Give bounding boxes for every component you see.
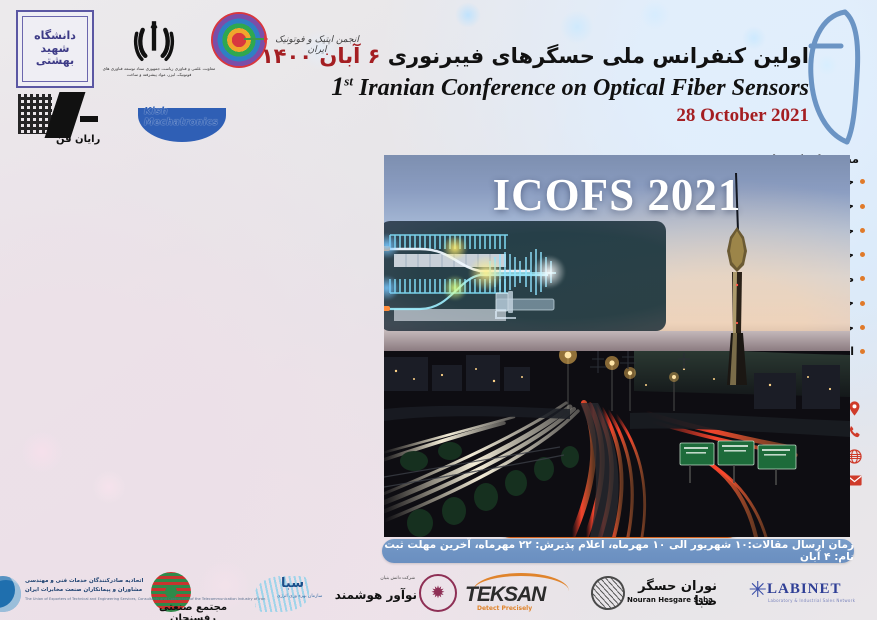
noavar-hooshmand-logo: ✹ شرکت دانش بنیان نوآور هوشمند xyxy=(343,572,463,616)
nouran-hesgare-saba-logo: نوران حسگر صبا Nouran Hesgare Saba xyxy=(591,572,717,616)
rayan-fan-dash-icon xyxy=(80,116,98,122)
sponsor-logo-strip: ✳ LABINET Laboratory & Industrial Sales … xyxy=(0,568,877,620)
bullet-icon xyxy=(860,301,865,306)
persian-date: ۶ آبان ۱۴۰۰ xyxy=(261,44,381,68)
hero-image: ICOFS 2021 xyxy=(384,155,850,537)
photonic-circuit-graphic xyxy=(384,221,666,331)
bullet-icon xyxy=(860,349,865,354)
union-line-3: The Union of Exporters of Technical and … xyxy=(25,597,265,602)
blue-calligraphy-bracket-icon xyxy=(801,6,863,146)
highway-night-scene xyxy=(384,351,850,537)
noavar-subtitle: شرکت دانش بنیان xyxy=(380,576,415,581)
chip-glow-yellow xyxy=(442,275,468,301)
bullet-icon xyxy=(860,325,865,330)
chip-glow-center xyxy=(468,255,504,291)
bullet-icon xyxy=(860,179,865,184)
teksan-name: TEKSAN xyxy=(465,583,545,607)
opsi-arrow-icon xyxy=(244,35,274,43)
saba-name: سبا xyxy=(281,576,304,591)
union-line-1: اتحادیه صادرکنندگان خدمات فنی و مهندسی xyxy=(25,578,143,584)
conference-poster: دانشگاه شهید بهشتی معاونت علمی و فناوری … xyxy=(0,0,877,620)
noavar-name: نوآور هوشمند xyxy=(335,588,417,602)
bokeh-decoration xyxy=(92,470,126,504)
hero-scene: ICOFS 2021 xyxy=(384,155,850,537)
bullet-icon xyxy=(860,252,865,257)
bullet-icon xyxy=(860,276,865,281)
rayan-fan-label: رایان فن xyxy=(56,134,100,145)
deadlines-banner: زمان ارسال مقالات:۱۰ شهریور الی ۱۰ مهرما… xyxy=(382,539,854,563)
teksan-subtitle: Detect Precisely xyxy=(477,605,532,612)
english-date: 28 October 2021 xyxy=(109,105,809,127)
hero-title: ICOFS 2021 xyxy=(384,169,850,221)
noavar-emblem-icon: ✹ xyxy=(419,574,457,612)
bullet-icon xyxy=(860,228,865,233)
labinet-logo: ✳ LABINET Laboratory & Industrial Sales … xyxy=(745,572,877,616)
english-title-line: 1st Iranian Conference on Optical Fiber … xyxy=(109,72,809,103)
title-block: اولین کنفرانس ملی حسگرهای فیبرنوری ۶ آبا… xyxy=(109,44,809,127)
english-conference-title: Iranian Conference on Optical Fiber Sens… xyxy=(359,75,809,101)
ordinal-number: 1st xyxy=(331,72,353,101)
labinet-name: LABINET xyxy=(767,581,842,598)
shahid-beheshti-university-logo: دانشگاه شهید بهشتی xyxy=(16,10,94,88)
teksan-logo: TEKSAN Detect Precisely xyxy=(463,572,591,616)
deadlines-text: زمان ارسال مقالات:۱۰ شهریور الی ۱۰ مهرما… xyxy=(382,539,854,563)
rafsanjan-industrial-complex-logo: مجتمع صنعتی رفسنجان xyxy=(135,572,251,616)
bullet-icon xyxy=(860,204,865,209)
nouran-name-en: Nouran Hesgare Saba xyxy=(627,596,713,604)
rafsanjan-name: مجتمع صنعتی رفسنجان xyxy=(135,602,251,620)
poster-header: دانشگاه شهید بهشتی معاونت علمی و فناوری … xyxy=(0,0,877,150)
labinet-mark-icon: ✳ xyxy=(745,580,767,604)
labinet-subtitle: Laboratory & Industrial Sales Network xyxy=(768,598,855,603)
chip-glow-right xyxy=(532,255,566,289)
saba-logo: سبا سازمان بهره وری انرژی xyxy=(251,572,343,616)
nouran-name-fa: نوران حسگر صبا xyxy=(627,579,717,609)
bokeh-decoration xyxy=(20,430,64,474)
sbu-logo-text: دانشگاه شهید بهشتی xyxy=(22,16,88,82)
persian-title-line: اولین کنفرانس ملی حسگرهای فیبرنوری ۶ آبا… xyxy=(109,44,809,69)
chip-glow-yellow xyxy=(442,235,468,261)
nouran-swirl-icon xyxy=(587,572,628,613)
union-spiral-icon xyxy=(0,576,21,612)
technical-engineering-union-logo: اتحادیه صادرکنندگان خدمات فنی و مهندسی م… xyxy=(0,572,135,616)
persian-conference-title: اولین کنفرانس ملی حسگرهای فیبرنوری xyxy=(388,44,809,68)
union-line-2: مشاوران و پیمانکاران صنعت مخابرات ایران xyxy=(25,587,142,593)
saba-subtitle: سازمان بهره وری انرژی xyxy=(277,594,322,599)
